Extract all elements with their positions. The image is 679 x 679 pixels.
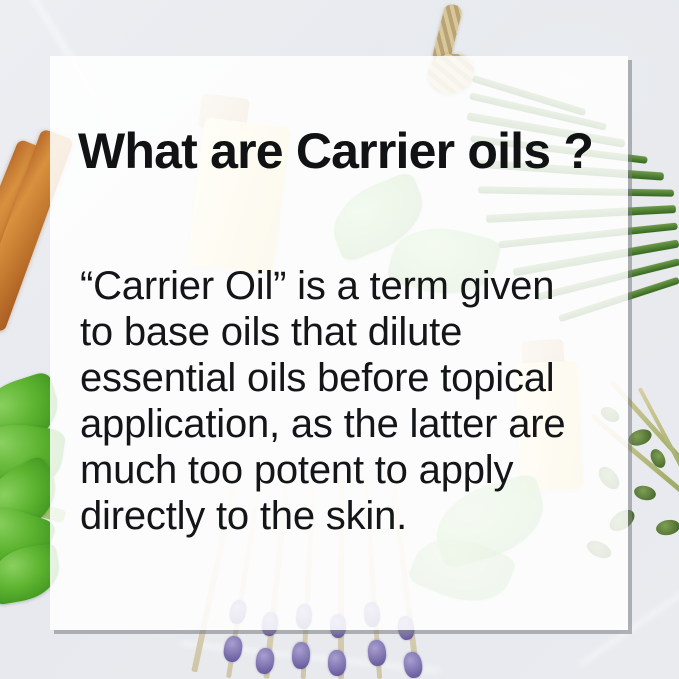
body-line: “Carrier Oil” is a term given: [80, 263, 610, 309]
infographic-canvas: What are Carrier oils ? “Carrier Oil” is…: [0, 0, 679, 679]
page-title: What are Carrier oils ?: [78, 122, 593, 180]
body-line: to base oils that dilute: [80, 309, 610, 355]
body-line: directly to the skin.: [80, 493, 610, 539]
body-line: application, as the latter are: [80, 401, 610, 447]
body-line: essential oils before topical: [80, 355, 610, 401]
body-paragraph: “Carrier Oil” is a term given to base oi…: [80, 263, 610, 539]
marble-vein: [181, 641, 440, 672]
body-line: much too potent to apply: [80, 447, 610, 493]
lavender-bud: [328, 650, 346, 676]
